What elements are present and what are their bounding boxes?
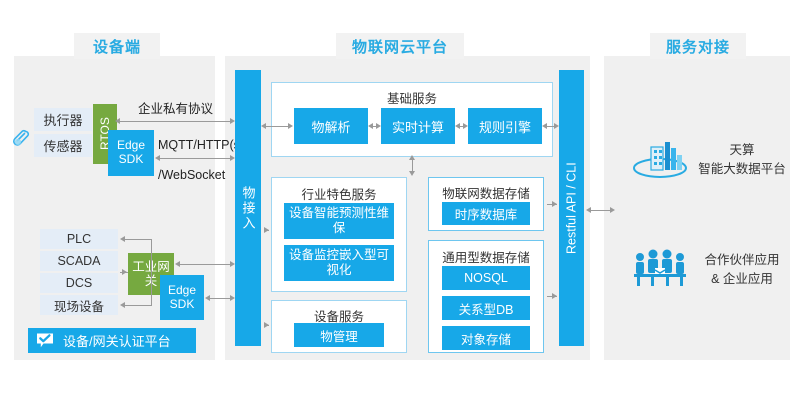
bracket-bottom [125,305,152,306]
link-iotstore-api-arrow [552,201,557,207]
source-plc: PLC [40,229,118,249]
building-analytics-icon [631,138,689,182]
link-private-arrow-left [115,118,120,124]
group-title-general-data-storage: 通用型数据存储 [428,247,544,266]
paperclip-icon [8,125,34,151]
restful-api-cli-bar: Restful API / CLI [559,70,584,346]
device-sensor: 传感器 [34,134,92,157]
protocol-label-private: 企业私有协议 [138,98,213,117]
bracket-mid-arrow [122,269,127,275]
group-title-basic-services: 基础服务 [271,88,553,107]
iot-access-bar: 物接入 [235,70,261,346]
panel-title-device-side: 设备端 [74,33,160,59]
service-thing-management: 物管理 [294,323,384,347]
auth-platform-label: 设备/网关认证平台 [63,331,171,350]
service-device-monitoring-visualization: 设备监控嵌入型可视化 [284,245,394,281]
protocol-label-websocket: /WebSocket [158,168,225,182]
link-access-devsvc-arrow [264,322,269,328]
link-basic-lower-arrow-u [409,155,415,160]
edge-sdk-block-device: Edge SDK [108,130,154,176]
storage-relational-db: 关系型DB [442,296,530,320]
service-rule-engine: 规则引擎 [468,108,542,144]
bracket-top [125,239,152,240]
link-api-services-arrow-r [610,207,615,213]
service-realtime-compute: 实时计算 [381,108,455,144]
service-label-tiansuan: 天算 智能大数据平台 [690,141,794,179]
group-title-iot-data-storage: 物联网数据存储 [428,183,544,202]
partner-meeting-icon [631,248,689,288]
source-field-device: 现场设备 [40,295,118,315]
link-basic-lower-arrow-d [409,171,415,176]
panel-title-service-docking: 服务对接 [650,33,746,59]
bracket-top-arrow [120,236,125,242]
link-gateway-top-arrow-left [175,261,180,267]
link-mqtt [158,158,233,159]
link-gateway-top [178,264,233,265]
link-rule-api-arrow-l [542,123,547,129]
link-gateway-bottom-arrow-left [205,295,210,301]
bracket-vertical [151,239,152,305]
link-parse-calc-arrow-r [376,123,381,129]
link-parse-calc-arrow-l [368,123,373,129]
device-actuator: 执行器 [34,108,92,131]
architecture-diagram: 设备端 物联网云平台 服务对接 执行器 传感器 RTOS Edge SDK PL… [0,0,802,411]
link-genstore-api-arrow [552,293,557,299]
service-predictive-maintenance: 设备智能预测性维保 [284,203,394,239]
source-scada: SCADA [40,251,118,271]
device-gateway-auth-platform: 设备/网关认证平台 [28,328,196,353]
storage-timeseries-db: 时序数据库 [442,202,530,225]
link-access-to-parse [264,126,291,127]
protocol-label-mqtt: MQTT/HTTP(s) [158,138,244,152]
link-access-parse-arrow-r [288,123,293,129]
link-rule-api-arrow-r [554,123,559,129]
edge-sdk-block-gateway: Edge SDK [160,275,204,320]
link-calc-rule-arrow-l [455,123,460,129]
service-thing-parsing: 物解析 [294,108,368,144]
link-private-protocol [118,121,233,122]
link-access-parse-arrow-l [261,123,266,129]
service-partner-line2: & 企业应用 [690,270,794,289]
panel-title-iot-cloud: 物联网云平台 [336,33,464,59]
bracket-bottom-arrow [120,302,125,308]
panel-service-docking [604,56,790,360]
link-mqtt-arrow-left [155,155,160,161]
group-title-industry-services: 行业特色服务 [271,184,407,203]
link-access-industry-arrow [264,227,269,233]
link-calc-rule-arrow-r [463,123,468,129]
service-label-partner: 合作伙伴应用 & 企业应用 [690,251,794,289]
service-tiansuan-line2: 智能大数据平台 [690,160,794,179]
link-api-services-arrow-l [586,207,591,213]
storage-object-store: 对象存储 [442,326,530,350]
check-bubble-icon [36,333,54,348]
service-partner-line1: 合作伙伴应用 [690,251,794,270]
source-dcs: DCS [40,273,118,293]
service-tiansuan-line1: 天算 [690,141,794,160]
storage-nosql: NOSQL [442,266,530,290]
